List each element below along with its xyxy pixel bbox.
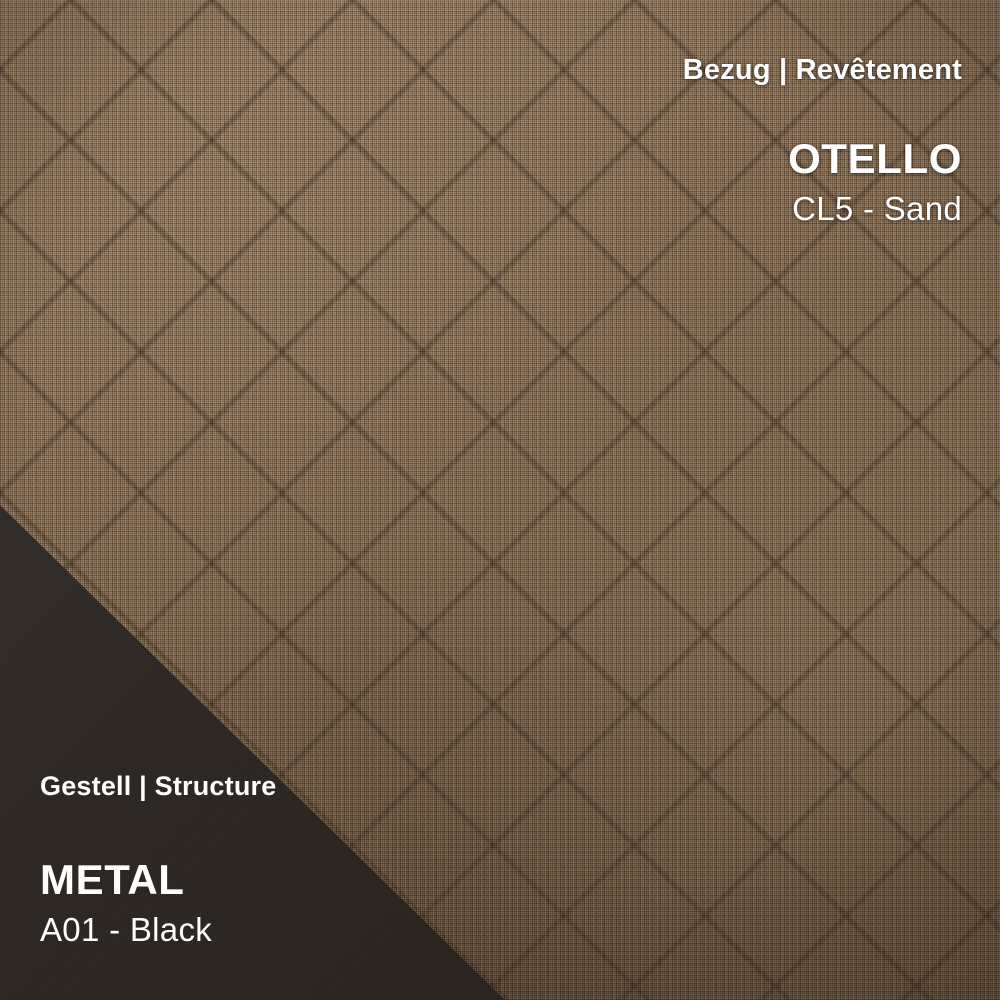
upholstery-kicker-fr: Revêtement bbox=[796, 54, 962, 86]
frame-label-group: Gestell | Structure METAL A01 - Black bbox=[40, 771, 276, 948]
frame-material-code: A01 - Black bbox=[40, 912, 276, 948]
material-swatch-card: Bezug | Revêtement OTELLO CL5 - Sand Ges… bbox=[0, 0, 1000, 1000]
upholstery-material-name: OTELLO bbox=[683, 137, 962, 181]
upholstery-kicker-de: Bezug bbox=[683, 54, 771, 86]
upholstery-kicker: Bezug | Revêtement bbox=[683, 54, 962, 87]
upholstery-material-code: CL5 - Sand bbox=[683, 191, 962, 227]
frame-kicker-fr: Structure bbox=[155, 771, 277, 801]
upholstery-label-group: Bezug | Revêtement OTELLO CL5 - Sand bbox=[683, 54, 962, 228]
frame-kicker-de: Gestell bbox=[40, 771, 131, 801]
frame-material-name: METAL bbox=[40, 858, 276, 902]
frame-kicker-separator: | bbox=[139, 771, 147, 801]
upholstery-kicker-separator: | bbox=[779, 54, 787, 86]
frame-kicker: Gestell | Structure bbox=[40, 771, 276, 802]
